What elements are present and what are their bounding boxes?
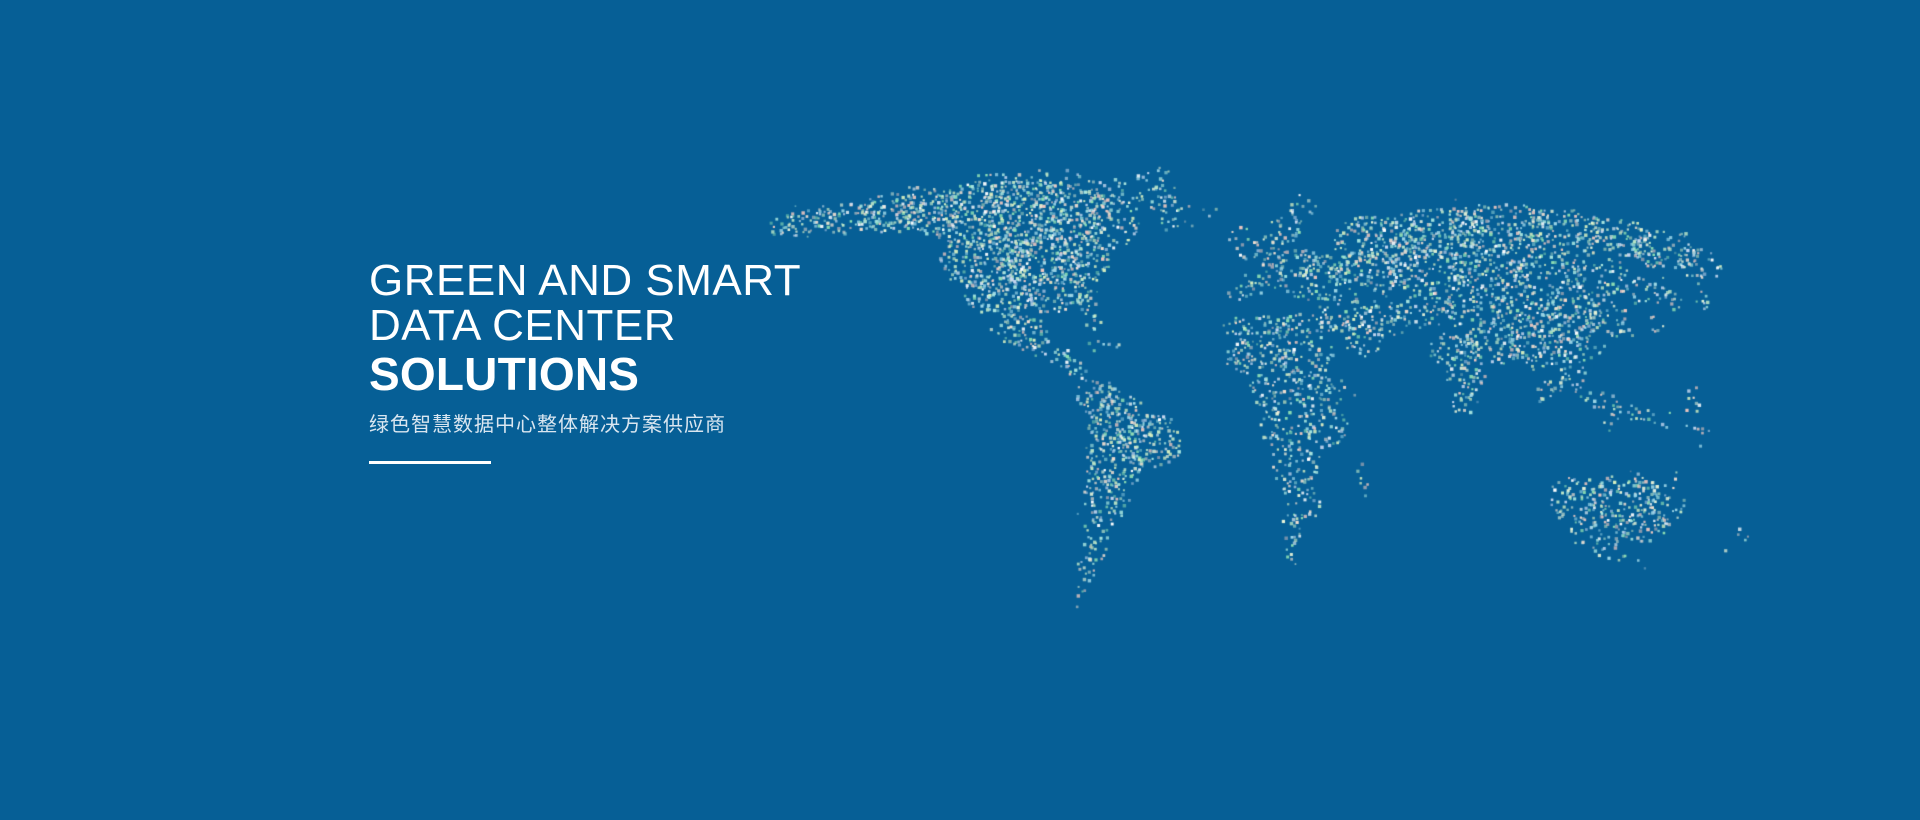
headline-line-3: SOLUTIONS <box>369 348 1169 400</box>
headline-line-2: DATA CENTER <box>369 303 1169 348</box>
hero-subtitle: 绿色智慧数据中心整体解决方案供应商 <box>369 412 1169 438</box>
hero-divider-rule <box>369 461 491 464</box>
hero-text-block: GREEN AND SMART DATA CENTER SOLUTIONS 绿色… <box>369 258 1169 464</box>
headline-line-1: GREEN AND SMART <box>369 258 1169 303</box>
hero-banner: GREEN AND SMART DATA CENTER SOLUTIONS 绿色… <box>0 0 1920 820</box>
